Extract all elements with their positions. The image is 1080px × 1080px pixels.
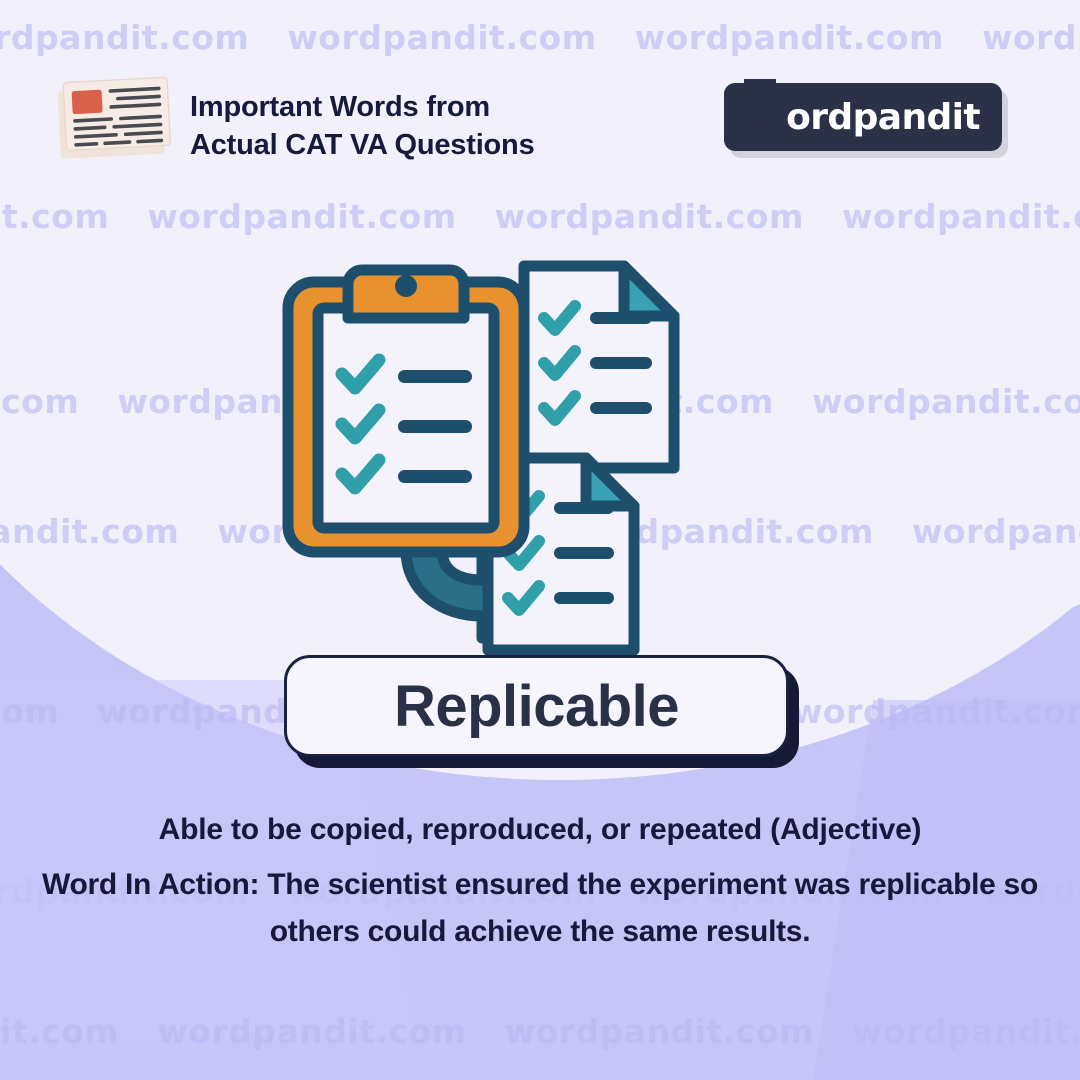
word-in-action: Word In Action: The scientist ensured th… bbox=[40, 862, 1040, 956]
orange-clipboard-icon bbox=[288, 270, 524, 552]
replication-checklist-illustration bbox=[276, 250, 806, 670]
word-in-action-line1: Word In Action: The scientist ensured th… bbox=[42, 868, 850, 901]
vocabulary-word: Replicable bbox=[394, 673, 679, 740]
bookmark-icon bbox=[740, 77, 780, 135]
page-title: Important Words from Actual CAT VA Quest… bbox=[190, 88, 535, 165]
poster-canvas: wordpandit.comwordpandit.comwordpandit.c… bbox=[0, 0, 1080, 1080]
wordpandit-logo[interactable]: ordpandit bbox=[724, 83, 1002, 151]
word-definition: Able to be copied, reproduced, or repeat… bbox=[40, 808, 1040, 852]
page-title-line1: Important Words from bbox=[190, 91, 490, 123]
word-card: Replicable bbox=[284, 655, 789, 757]
header: Important Words from Actual CAT VA Quest… bbox=[0, 0, 1080, 190]
newspaper-icon bbox=[55, 72, 175, 164]
word-description: Able to be copied, reproduced, or repeat… bbox=[40, 808, 1040, 955]
document-copy-top bbox=[524, 266, 674, 468]
page-title-line2: Actual CAT VA Questions bbox=[190, 126, 535, 164]
